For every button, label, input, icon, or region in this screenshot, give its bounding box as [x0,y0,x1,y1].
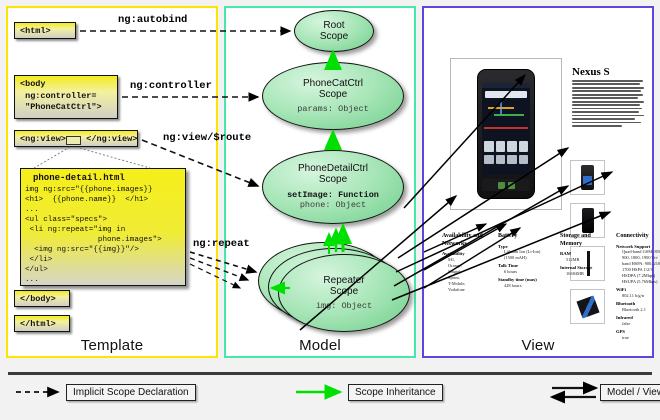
spec-heading: Connectivity [616,233,660,241]
status-bar [482,83,530,88]
code-box-html-close: </html> [14,315,70,332]
arrow-label-controller: ng:controller [130,80,212,92]
spec-column-availability: Availability and Networks Availability M… [442,233,486,293]
spec-value: 512MB [560,257,612,263]
spec-heading: Storage and Memory [560,233,612,248]
wallpaper-stripe-red [484,127,528,129]
thumbnail-phone-angle[interactable] [570,289,605,324]
column-label-model: Model [226,337,414,354]
spec-value: 16384MB [560,271,612,277]
spec-value: Vodafone [442,287,486,293]
home-icon-row-2 [484,155,528,165]
arrow-label-repeat: ng:repeat [193,238,250,250]
spec-value: 802.11 b/g/n [616,293,660,299]
spec-heading: Availability and Networks [442,233,486,248]
spec-value: false [616,321,660,327]
scope-props-repeater: img: Object [316,301,372,312]
spec-column-storage: Storage and Memory RAM 512MB Internal St… [560,233,612,277]
scope-name-root: RootScope [320,20,348,42]
scope-props-phonecatctrl: params: Object [297,104,368,115]
column-label-template: Template [8,337,216,354]
spec-value: (1500 mAH) [498,255,552,261]
thumbnail-phone-front[interactable] [570,160,605,195]
wallpaper-stripe-yellow [488,107,514,109]
note-title: phone-detail.html [21,169,185,185]
legend-divider [8,372,652,375]
sticky-note-phone-detail: phone-detail.html img ng:src="{{phone.im… [20,168,186,286]
spec-column-battery: Battery Type Lithium Ion (Li-Ion) (1500 … [498,233,552,289]
view-phone-description [572,80,644,129]
scope-name-phonecatctrl: PhoneCatCtrlScope [303,78,363,100]
spec-value: true [616,335,660,341]
view-phone-title: Nexus S [572,66,610,78]
legend-item-scope-inheritance: Scope Inheritance [348,384,443,401]
spec-heading: Battery [498,233,552,241]
scope-root: RootScope [294,10,374,52]
diagram-canvas: Template Model View <html> <body ng:cont… [0,0,660,420]
phone-device-illustration [477,69,535,199]
legend-item-model-view-data-binding: Model / View Data-binding [600,384,660,401]
wallpaper-stripe-green [494,114,524,116]
arrow-label-route: ng:view/$route [163,132,251,144]
note-code: img ng:src="{{phone.images}} <h1> {{phon… [21,185,185,285]
scope-phonedetailctrl: PhoneDetailCtrlScope setImage: Function … [262,150,404,224]
scope-props-phonedetailctrl: setImage: Function phone: Object [287,190,379,211]
phone-hero-image [450,58,562,210]
phone-screen [482,83,530,175]
spec-value: Bluetooth 2.1 [616,307,660,313]
view-rendered-page: Nexus S Availability and Networks Availa… [432,18,644,328]
code-box-body-close: </body> [14,290,70,307]
legend-item-implicit-scope-declaration: Implicit Scope Declaration [66,384,196,401]
ng-view-placeholder-icon [66,136,81,145]
search-widget [485,91,527,98]
scope-prop-phone: phone: Object [300,200,366,210]
scope-name-repeater: RepeaterScope [323,275,364,297]
code-box-html-open: <html> [14,22,76,39]
spec-value: 6 hours [498,269,552,275]
code-box-body-open: <body ng:controller= "PhoneCatCtrl"> [14,75,118,119]
spec-value: HSUPA (5.76Mbps) [616,279,660,285]
scope-repeater: RepeaterScope img: Object [278,254,410,332]
spec-column-connectivity: Connectivity Network Support Quad-band G… [616,233,660,341]
scope-prop-setimage: setImage: Function [287,190,379,200]
spec-value: 428 hours [498,283,552,289]
phone-soft-keys [482,179,530,191]
scope-name-phonedetailctrl: PhoneDetailCtrlScope [298,163,368,185]
scope-phonecatctrl: PhoneCatCtrlScope params: Object [262,62,404,130]
arrow-label-autobind: ng:autobind [118,14,187,26]
